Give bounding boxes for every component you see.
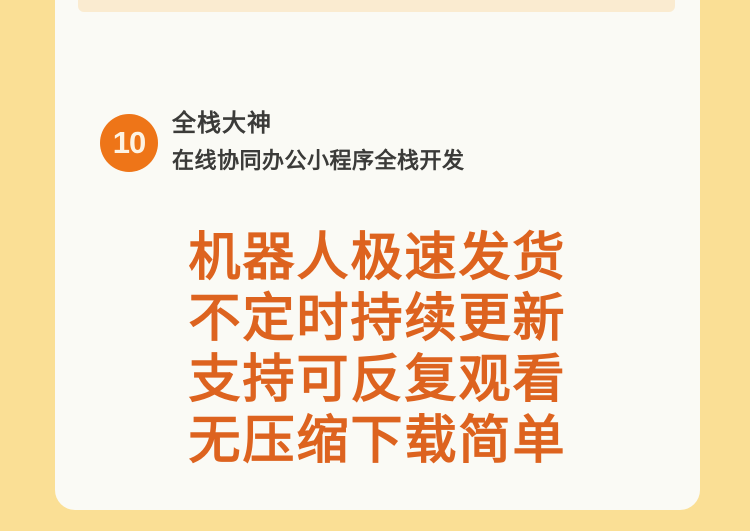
lesson-subtitle: 在线协同办公小程序全栈开发 [172,150,465,172]
lesson-number-badge: 10 [100,114,158,172]
promo-line-3: 支持可反复观看 [188,350,566,411]
promo-line-2: 不定时持续更新 [188,289,566,350]
promo-line-1: 机器人极速发货 [188,228,566,289]
top-banner-strip [78,0,675,12]
lesson-text-group: 全栈大神 在线协同办公小程序全栈开发 [172,112,465,174]
content-card: 10 全栈大神 在线协同办公小程序全栈开发 机器人极速发货 不定时持续更新 支持… [55,0,700,510]
page-background: 10 全栈大神 在线协同办公小程序全栈开发 机器人极速发货 不定时持续更新 支持… [0,0,750,531]
promo-line-4: 无压缩下载简单 [188,411,566,472]
lesson-header[interactable]: 10 全栈大神 在线协同办公小程序全栈开发 [100,112,465,174]
lesson-title: 全栈大神 [172,112,465,136]
promo-text-block: 机器人极速发货 不定时持续更新 支持可反复观看 无压缩下载简单 [55,228,700,472]
